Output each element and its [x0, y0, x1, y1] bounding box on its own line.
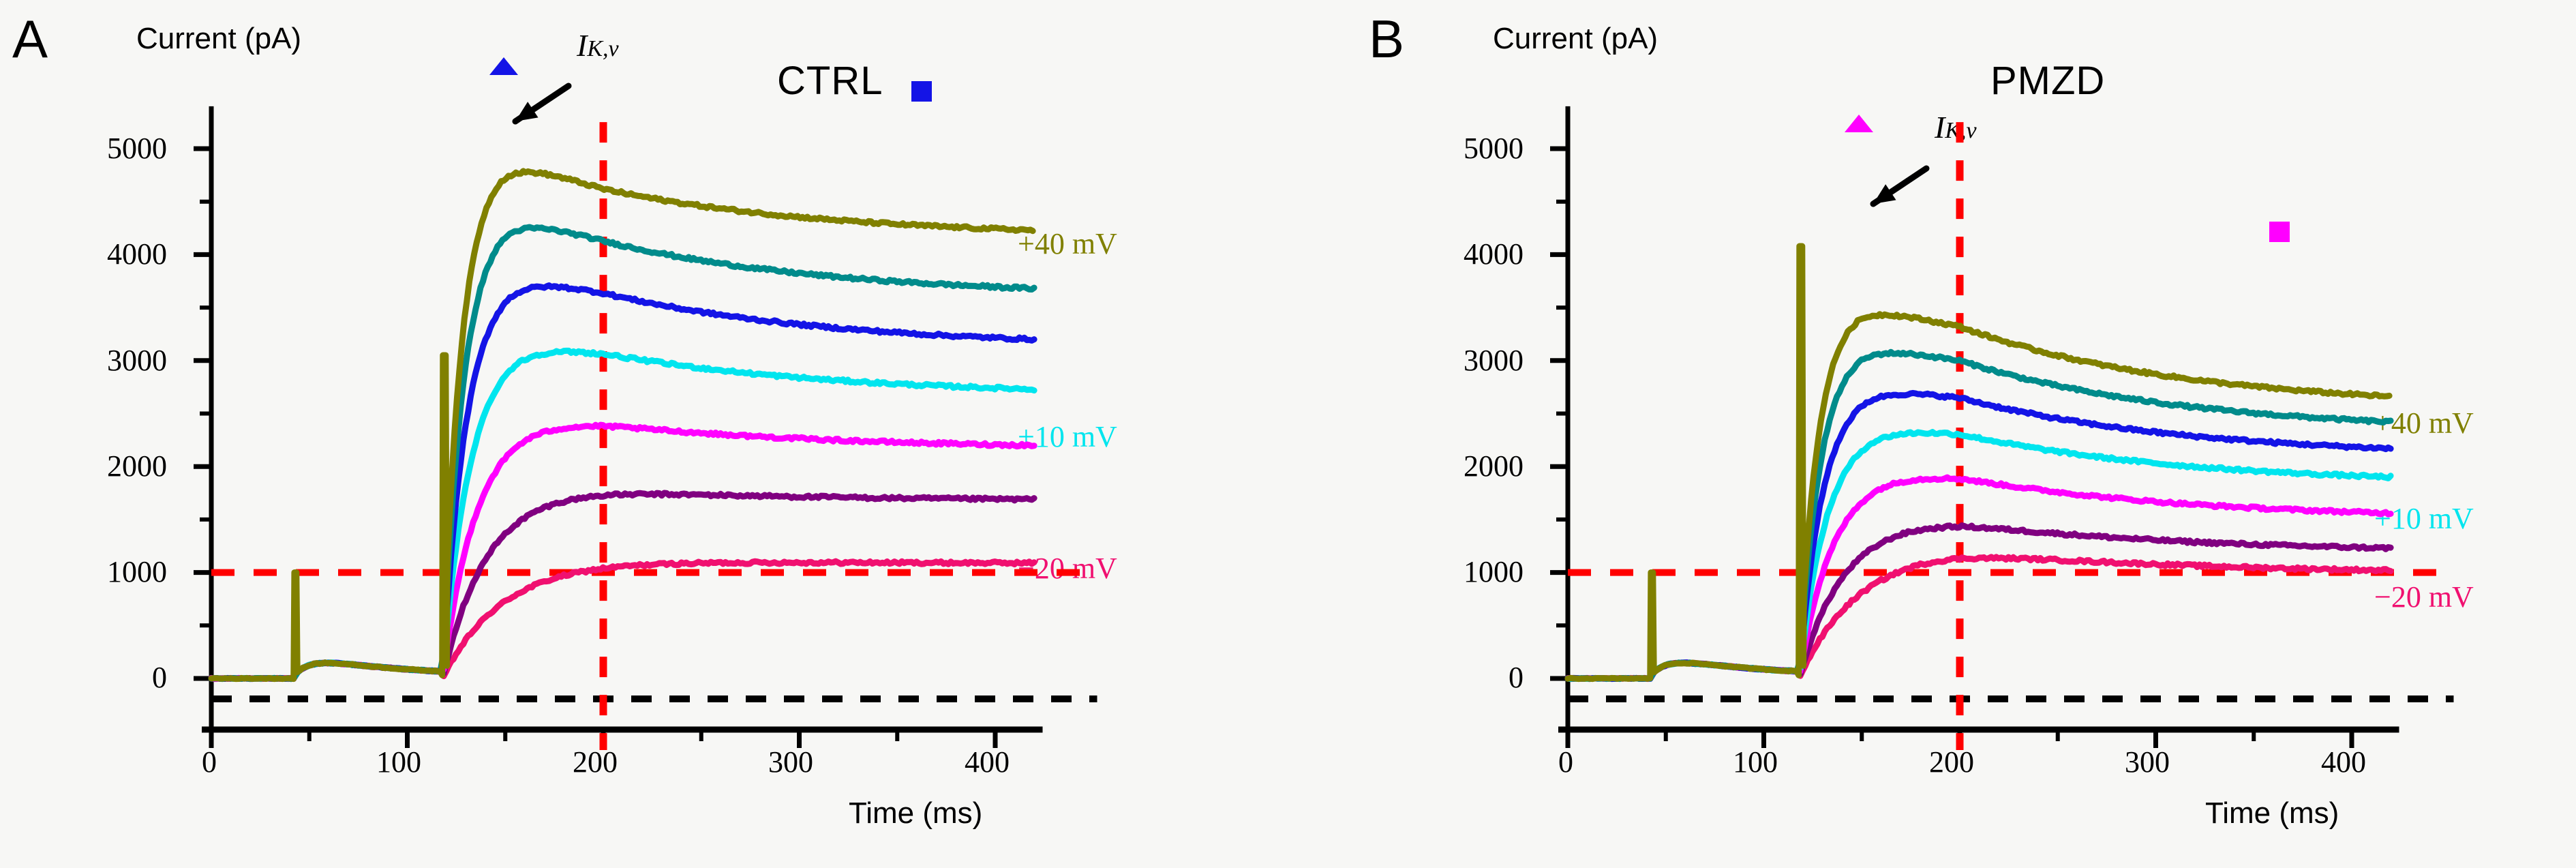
- trace-plot-a: [0, 0, 1288, 868]
- trace-plot-b: [1288, 0, 2576, 868]
- panel-a: A Current (pA) CTRL IK,v 5000 4000 3000 …: [0, 0, 1288, 868]
- figure-root: A Current (pA) CTRL IK,v 5000 4000 3000 …: [0, 0, 2576, 868]
- panel-b: B Current (pA) PMZD IK,v 5000 4000 3000 …: [1288, 0, 2576, 868]
